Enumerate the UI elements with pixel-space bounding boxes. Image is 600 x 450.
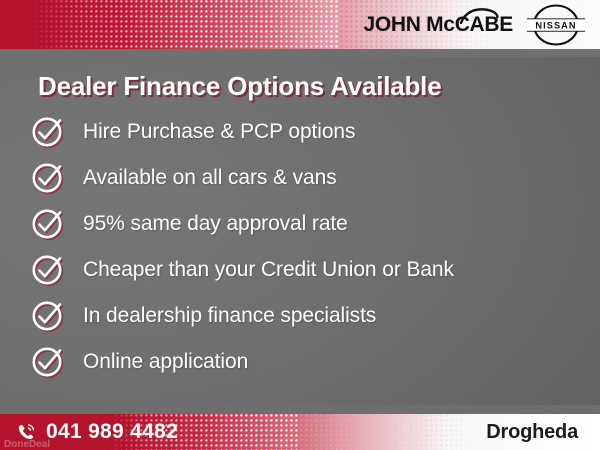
- list-item-label: In dealership finance specialists: [83, 304, 376, 328]
- check-circle-icon: [30, 297, 68, 335]
- list-item: 95% same day approval rate: [0, 201, 600, 247]
- benefits-list: Hire Purchase & PCP options Available on…: [0, 109, 600, 385]
- advertisement-banner: JOHN McCABE NISSAN Dealer Finance Option…: [0, 0, 600, 450]
- check-circle-icon: [30, 251, 68, 289]
- list-item: Cheaper than your Credit Union or Bank: [0, 247, 600, 293]
- list-item-label: Available on all cars & vans: [83, 166, 337, 190]
- list-item: In dealership finance specialists: [0, 293, 600, 339]
- dealer-name: JOHN McCABE: [363, 13, 513, 37]
- list-item: Available on all cars & vans: [0, 155, 600, 201]
- donedeal-watermark: DoneDeal: [4, 439, 50, 450]
- header-divider-strip: [0, 49, 600, 57]
- footer-divider-strip: [0, 405, 600, 414]
- nissan-logo-icon: NISSAN: [524, 4, 588, 46]
- check-circle-icon: [30, 343, 68, 381]
- svg-text:NISSAN: NISSAN: [535, 20, 576, 30]
- footer-bar: 041 989 4482 Drogheda DoneDeal: [0, 414, 600, 450]
- list-item-label: Online application: [83, 350, 248, 374]
- list-item: Hire Purchase & PCP options: [0, 109, 600, 155]
- content-area: Dealer Finance Options Available Hire Pu…: [0, 57, 600, 405]
- list-item-label: 95% same day approval rate: [83, 212, 348, 236]
- dealer-name-text: JOHN McCABE: [363, 13, 513, 36]
- list-item-label: Cheaper than your Credit Union or Bank: [83, 258, 454, 282]
- dealer-location: Drogheda: [486, 414, 578, 450]
- list-item: Online application: [0, 339, 600, 385]
- footer-halftone-pattern-secondary: [300, 414, 500, 450]
- check-circle-icon: [30, 113, 68, 151]
- check-circle-icon: [30, 205, 68, 243]
- page-title: Dealer Finance Options Available: [38, 71, 441, 102]
- phone-number: 041 989 4482: [46, 420, 178, 444]
- check-circle-icon: [30, 159, 68, 197]
- brand-lockup: JOHN McCABE NISSAN: [363, 0, 588, 49]
- list-item-label: Hire Purchase & PCP options: [83, 120, 355, 144]
- header-bar: JOHN McCABE NISSAN: [0, 0, 600, 49]
